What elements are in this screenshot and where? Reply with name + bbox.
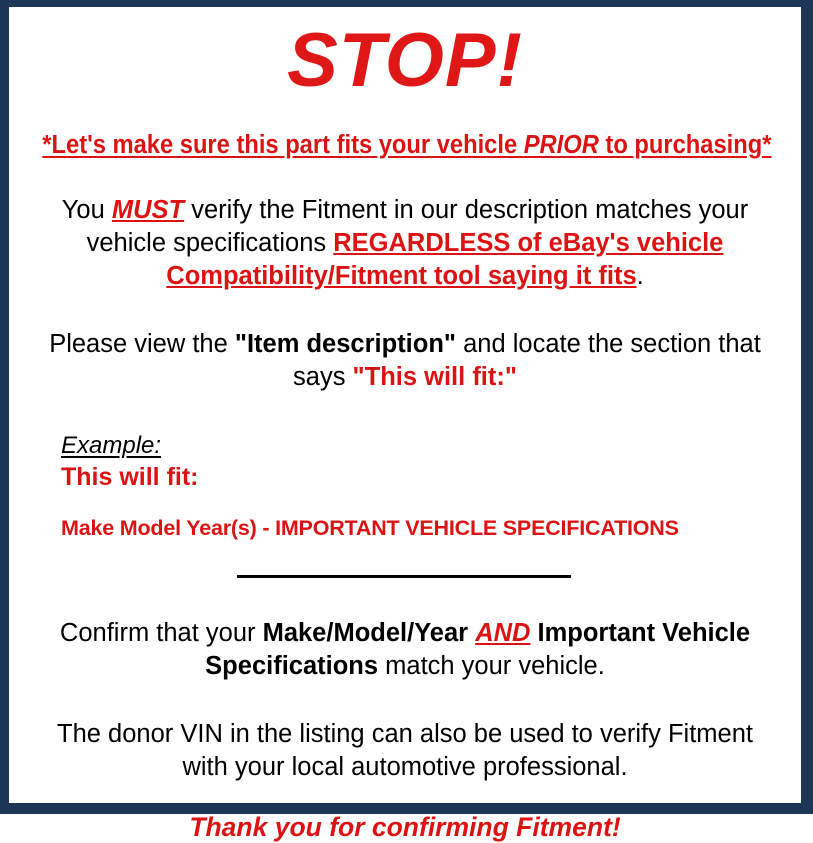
please-seg-1: Please view the [49,330,235,358]
divider-container [15,565,795,583]
tagline-before: *Let's make sure this part fits your veh… [42,131,523,159]
item-description-paragraph: Please view the "Item description" and l… [15,328,795,393]
must-verify-paragraph: You MUST verify the Fitment in our descr… [15,194,795,292]
donor-vin-paragraph: The donor VIN in the listing can also be… [15,718,795,783]
this-will-fit-quote: "This will fit:" [353,363,517,391]
thank-you-line: Thank you for confirming Fitment! [15,813,795,842]
must-seg-3: . [637,262,644,290]
must-seg-1: You [62,196,112,224]
tagline: *Let's make sure this part fits your veh… [42,131,767,160]
fitment-notice-card: STOP! *Let's make sure this part fits yo… [0,0,813,814]
notice-content: STOP! *Let's make sure this part fits yo… [9,23,801,819]
example-label: Example: [61,433,161,459]
make-model-year-label: Make/Model/Year [263,619,469,647]
example-label-row: Example: [61,433,795,459]
and-emphasis: AND [475,619,530,647]
confirm-seg-1: Confirm that your [60,619,263,647]
must-emphasis: MUST [112,196,184,224]
tagline-prior-emphasis: PRIOR [524,131,599,159]
horizontal-divider [237,575,571,578]
confirm-seg-3: match your vehicle. [378,652,605,680]
item-description-label: "Item description" [235,330,456,358]
page-title: STOP! [15,23,795,99]
confirm-paragraph: Confirm that your Make/Model/Year AND Im… [15,617,795,682]
tagline-after: to purchasing* [599,131,772,159]
example-spec-line: Make Model Year(s) - IMPORTANT VEHICLE S… [61,517,795,541]
example-this-will-fit: This will fit: [61,464,795,492]
example-block: Example: This will fit: Make Model Year(… [15,433,795,541]
